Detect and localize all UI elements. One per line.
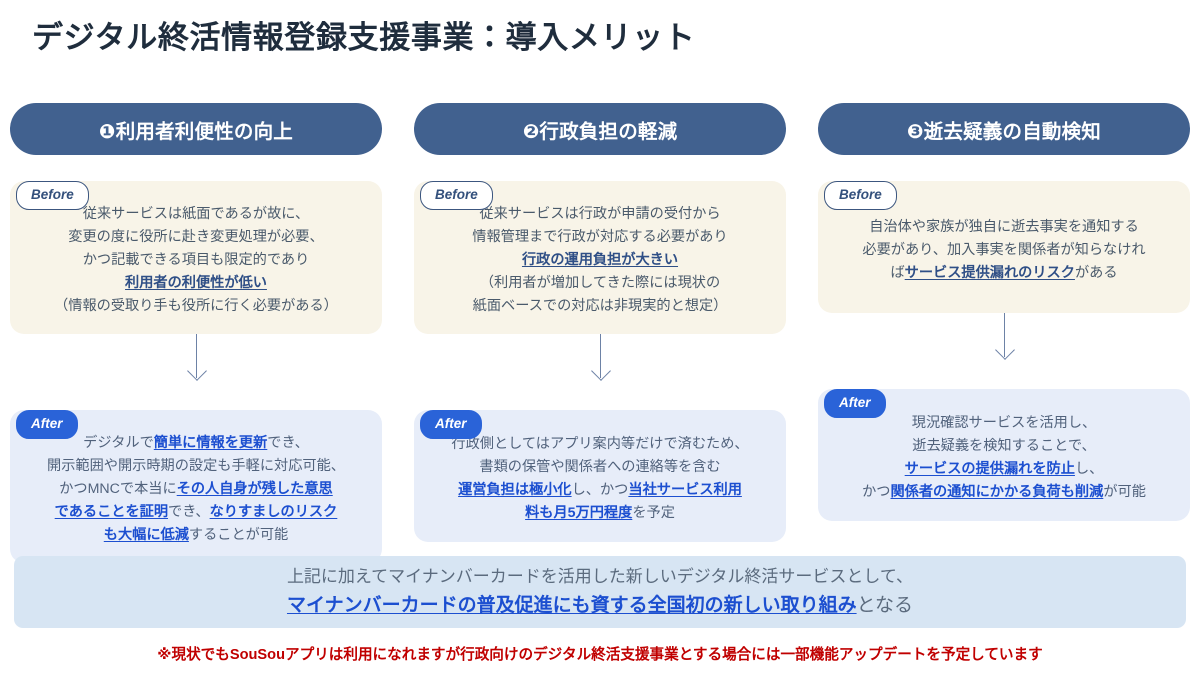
body-text: 書類の保管や関係者への連絡等を含む — [479, 459, 720, 475]
after-line-3: サービスの提供漏れを防止し、 — [830, 458, 1178, 481]
body-text: 紙面ベースでの対応は非現実的と想定） — [473, 298, 728, 314]
body-text: し、 — [1075, 461, 1103, 477]
after-line-1: 現況確認サービスを活用し、 — [830, 412, 1178, 435]
before-line-3: かつ記載できる項目も限定的であり — [22, 249, 370, 272]
before-line-4: 利用者の利便性が低い — [22, 272, 370, 295]
before-line-3: ばサービス提供漏れのリスクがある — [830, 262, 1178, 285]
benefit-column-3: ❸逝去疑義の自動検知Before自治体や家族が独自に逝去事実を通知する必要があり… — [818, 103, 1190, 563]
down-arrow-icon — [818, 313, 1190, 363]
body-text: デジタルで — [83, 435, 154, 451]
before-line-1: 自治体や家族が独自に逝去事実を通知する — [830, 216, 1178, 239]
emphasis-text: 当社サービス利用 — [628, 482, 742, 498]
body-text: かつ記載できる項目も限定的であり — [83, 252, 310, 268]
body-text: 従来サービスは紙面であるが故に、 — [83, 206, 309, 222]
body-text: 行政側としてはアプリ案内等だけで済むため、 — [451, 436, 748, 452]
body-text: かつ — [862, 484, 890, 500]
body-text: し、かつ — [572, 482, 629, 498]
body-text: かつMNCで本当に — [59, 481, 176, 497]
column-header-2: ❷行政負担の軽減 — [414, 103, 786, 155]
body-text: （利用者が増加してきた際には現状の — [480, 275, 720, 291]
benefit-columns: ❶利用者利便性の向上Before従来サービスは紙面であるが故に、変更の度に役所に… — [0, 103, 1200, 563]
before-line-2: 変更の度に役所に赴き変更処理が必要、 — [22, 226, 370, 249]
emphasis-text: サービス提供漏れのリスク — [905, 265, 1075, 281]
body-text: 情報管理まで行政が対応する必要があり — [472, 229, 727, 245]
body-text: 自治体や家族が独自に逝去事実を通知する — [869, 219, 1139, 235]
after-line-4: 料も月5万円程度を予定 — [426, 502, 774, 525]
emphasis-text: 行政の運用負担が大きい — [522, 252, 678, 268]
before-line-2: 情報管理まで行政が対応する必要があり — [426, 226, 774, 249]
summary-line-2: マイナンバーカードの普及促進にも資する全国初の新しい取り組みとなる — [287, 592, 913, 621]
emphasis-text: 関係者の通知にかかる負荷も削減 — [890, 484, 1103, 500]
before-line-2: 必要があり、加入事実を関係者が知らなけれ — [830, 239, 1178, 262]
after-line-2: 書類の保管や関係者への連絡等を含む — [426, 456, 774, 479]
arrow-head — [995, 340, 1015, 360]
after-line-4: であることを証明でき、なりすましのリスク — [22, 501, 370, 524]
body-text: 上記に加えてマイナンバーカードを活用した新しいデジタル終活サービスとして、 — [287, 567, 913, 586]
body-text: ば — [890, 265, 904, 281]
arrow-head — [591, 361, 611, 381]
before-badge: Before — [16, 181, 89, 210]
arrow-shaft — [196, 334, 197, 378]
body-text: （情報の受取り手も役所に行く必要がある） — [54, 298, 338, 314]
after-stage: Afterデジタルで簡単に情報を更新でき、開示範囲や開示時期の設定も手軽に対応可… — [10, 410, 382, 563]
after-line-3: かつMNCで本当にその人自身が残した意思 — [22, 478, 370, 501]
body-text: 逝去疑義を検知することで、 — [912, 438, 1095, 454]
arrow-head — [187, 361, 207, 381]
column-header-3: ❸逝去疑義の自動検知 — [818, 103, 1190, 155]
emphasis-text: 運営負担は極小化 — [458, 482, 572, 498]
emphasis-text: であることを証明 — [55, 504, 168, 520]
body-text: 変更の度に役所に赴き変更処理が必要、 — [68, 229, 323, 245]
arrow-shaft — [600, 334, 601, 378]
body-text: 現況確認サービスを活用し、 — [912, 415, 1096, 431]
benefit-column-1: ❶利用者利便性の向上Before従来サービスは紙面であるが故に、変更の度に役所に… — [10, 103, 382, 563]
body-text: となる — [857, 595, 913, 616]
before-badge: Before — [420, 181, 493, 210]
after-line-3: 運営負担は極小化し、かつ当社サービス利用 — [426, 479, 774, 502]
emphasis-text: その人自身が残した意思 — [177, 481, 333, 497]
page-title: デジタル終活情報登録支援事業：導入メリット — [32, 12, 695, 57]
after-badge: After — [420, 410, 482, 439]
after-badge: After — [16, 410, 78, 439]
after-line-1: デジタルで簡単に情報を更新でき、 — [22, 432, 370, 455]
arrow-shaft — [1004, 313, 1005, 357]
emphasis-text: マイナンバーカードの普及促進にも資する全国初の新しい取り組み — [287, 595, 857, 616]
emphasis-text: なりすましのリスク — [210, 504, 338, 520]
body-text: がある — [1075, 265, 1118, 281]
emphasis-text: 料も月5万円程度 — [525, 505, 632, 521]
body-text: でき、 — [168, 504, 210, 520]
footnote-note: ※現状でもSouSouアプリは利用になれますが行政向けのデジタル終活支援事業とす… — [0, 643, 1200, 664]
body-text: でき、 — [267, 435, 309, 451]
before-stage: Before従来サービスは行政が申請の受付から情報管理まで行政が対応する必要があ… — [414, 181, 786, 334]
emphasis-text: も大幅に低減 — [104, 527, 189, 543]
after-line-2: 開示範囲や開示時期の設定も手軽に対応可能、 — [22, 455, 370, 478]
body-text: 開示範囲や開示時期の設定も手軽に対応可能、 — [47, 458, 345, 474]
after-stage: After現況確認サービスを活用し、逝去疑義を検知することで、サービスの提供漏れ… — [818, 389, 1190, 521]
benefit-column-2: ❷行政負担の軽減Before従来サービスは行政が申請の受付から情報管理まで行政が… — [414, 103, 786, 563]
before-line-5: 紙面ベースでの対応は非現実的と想定） — [426, 295, 774, 318]
before-line-3: 行政の運用負担が大きい — [426, 249, 774, 272]
after-line-5: も大幅に低減することが可能 — [22, 524, 370, 547]
summary-panel: 上記に加えてマイナンバーカードを活用した新しいデジタル終活サービスとして、 マイ… — [14, 556, 1186, 628]
emphasis-text: 簡単に情報を更新 — [154, 435, 268, 451]
after-stage: After行政側としてはアプリ案内等だけで済むため、書類の保管や関係者への連絡等… — [414, 410, 786, 542]
emphasis-text: 利用者の利便性が低い — [125, 275, 267, 291]
body-text: が可能 — [1103, 484, 1146, 500]
body-text: 必要があり、加入事実を関係者が知らなけれ — [862, 242, 1145, 258]
before-line-5: （情報の受取り手も役所に行く必要がある） — [22, 295, 370, 318]
after-line-2: 逝去疑義を検知することで、 — [830, 435, 1178, 458]
after-badge: After — [824, 389, 886, 418]
after-line-4: かつ関係者の通知にかかる負荷も削減が可能 — [830, 481, 1178, 504]
before-stage: Before従来サービスは紙面であるが故に、変更の度に役所に赴き変更処理が必要、… — [10, 181, 382, 334]
down-arrow-icon — [414, 334, 786, 384]
before-line-4: （利用者が増加してきた際には現状の — [426, 272, 774, 295]
body-text: を予定 — [632, 505, 675, 521]
summary-line-1: 上記に加えてマイナンバーカードを活用した新しいデジタル終活サービスとして、 — [287, 564, 913, 590]
before-stage: Before自治体や家族が独自に逝去事実を通知する必要があり、加入事実を関係者が… — [818, 181, 1190, 313]
body-text: 従来サービスは行政が申請の受付から — [479, 206, 720, 222]
down-arrow-icon — [10, 334, 382, 384]
body-text: することが可能 — [189, 527, 288, 543]
emphasis-text: サービスの提供漏れを防止 — [905, 461, 1075, 477]
before-badge: Before — [824, 181, 897, 210]
column-header-1: ❶利用者利便性の向上 — [10, 103, 382, 155]
after-line-1: 行政側としてはアプリ案内等だけで済むため、 — [426, 433, 774, 456]
